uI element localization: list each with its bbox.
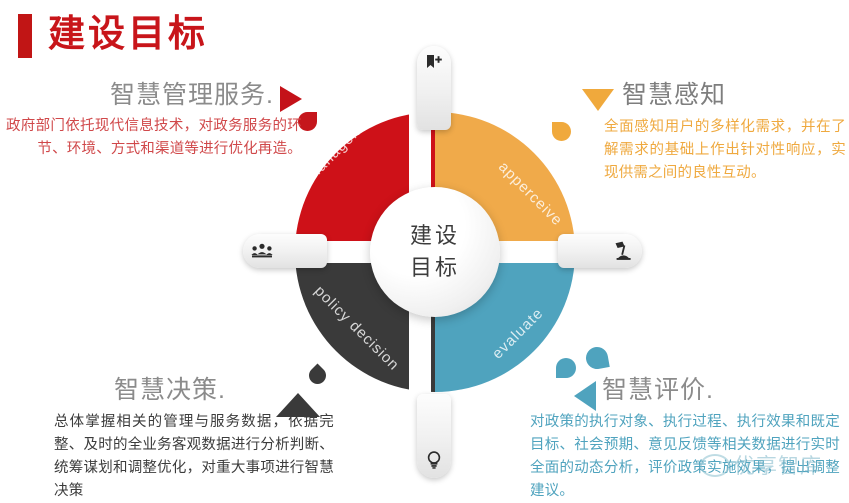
pill-tab-left[interactable]	[243, 234, 327, 268]
block-evaluate-body: 对政策的执行对象、执行过程、执行效果和既定目标、社会预期、意见反馈等相关数据进行…	[530, 411, 840, 503]
block-policy-decision: 智慧决策. 总体掌握相关的管理与服务数据，依据完整、及时的全业务客观数据进行分析…	[54, 375, 334, 503]
pill-tab-bottom[interactable]	[417, 394, 451, 478]
bookmark-plus-icon	[425, 54, 443, 72]
center-hub-line2: 目标	[410, 252, 460, 284]
pill-tab-right[interactable]	[558, 234, 642, 268]
block-management-service: 智慧管理服务. 政府部门依托现代信息技术，对政务服务的环节、环境、方式和渠道等进…	[6, 80, 302, 161]
block-evaluate: 智慧评价. 对政策的执行对象、执行过程、执行效果和既定目标、社会预期、意见反馈等…	[530, 375, 840, 503]
triangle-right-icon	[280, 86, 302, 112]
block-management-body: 政府部门依托现代信息技术，对政务服务的环节、环境、方式和渠道等进行优化再造。	[6, 115, 302, 161]
page-title: 建设目标	[48, 10, 208, 58]
desk-lamp-icon	[612, 241, 634, 261]
block-decision-body: 总体掌握相关的管理与服务数据，依据完整、及时的全业务客观数据进行分析判断、统筹谋…	[54, 411, 334, 503]
triangle-left-icon	[574, 381, 596, 411]
center-hub-text: 建设 目标	[410, 220, 460, 284]
pill-tab-top[interactable]	[417, 46, 451, 130]
center-hub-line1: 建设	[410, 220, 460, 252]
block-management-heading: 智慧管理服务.	[6, 80, 302, 110]
block-apperceive-body: 全面感知用户的多样化需求，并在了解需求的基础上作出针对性响应，实现供需之间的良性…	[578, 116, 846, 185]
title-accent-bar	[18, 14, 32, 58]
users-group-icon	[251, 243, 273, 259]
block-apperceive-heading: 智慧感知	[578, 80, 846, 110]
lightbulb-icon	[425, 450, 443, 470]
triangle-down-icon	[582, 89, 614, 111]
center-hub: 建设 目标	[370, 187, 500, 317]
droplet-teal-heading-decoration	[584, 345, 609, 370]
block-apperceive: 智慧感知 全面感知用户的多样化需求，并在了解需求的基础上作出针对性响应，实现供需…	[578, 80, 846, 185]
triangle-up-icon	[276, 393, 320, 417]
